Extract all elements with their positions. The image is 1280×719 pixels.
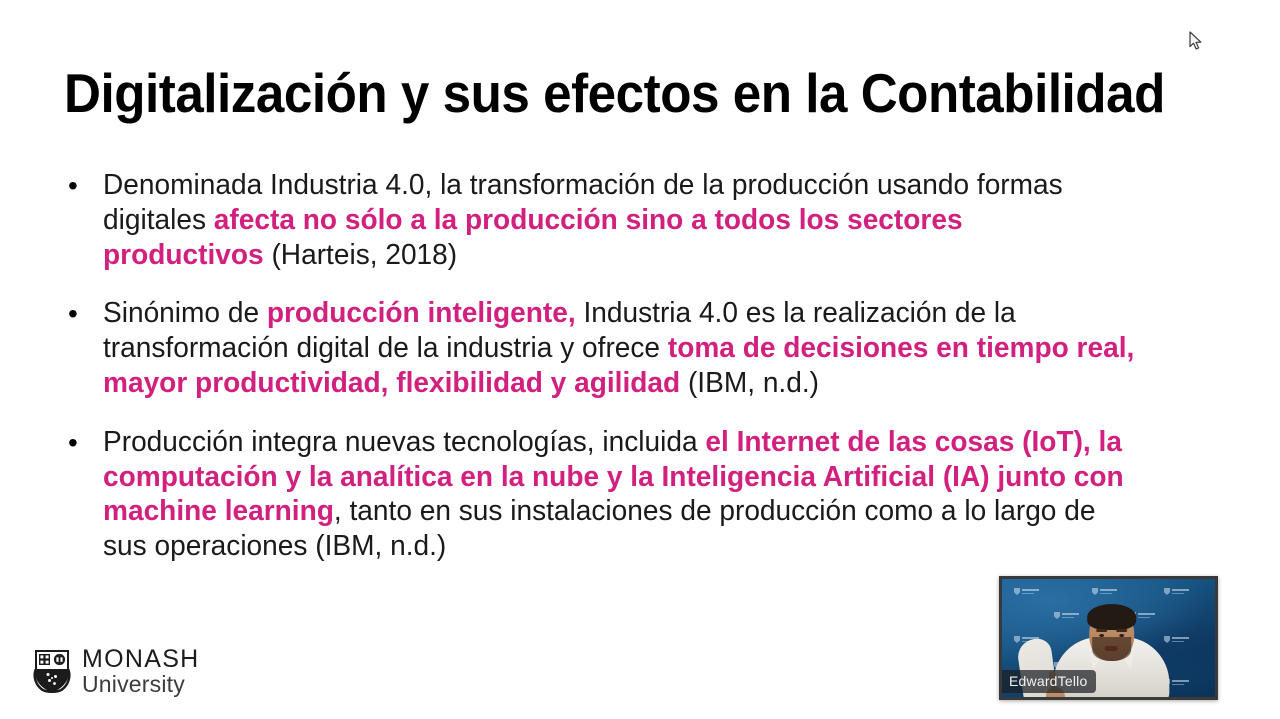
- slide-title: Digitalización y sus efectos en la Conta…: [64, 62, 1106, 124]
- bullet-marker: •: [60, 425, 103, 460]
- bullet-1-segment-highlight-1: afecta no sólo a la producción sino a to…: [103, 204, 963, 271]
- bullet-item-3: • Producción integra nuevas tecnologías,…: [60, 425, 1175, 564]
- participant-eyebrow-left: [1096, 629, 1107, 632]
- participant-head: [1089, 607, 1134, 661]
- bullet-text-2: Sinónimo de producción inteligente, Indu…: [103, 296, 1142, 400]
- bullet-item-2: • Sinónimo de producción inteligente, In…: [60, 296, 1175, 400]
- bullet-marker: •: [60, 296, 103, 331]
- bullet-item-1: • Denominada Industria 4.0, la transform…: [60, 168, 1175, 272]
- bullet-2-segment-plain-3: (IBM, n.d.): [680, 367, 819, 399]
- monash-shield-crest-icon: [33, 650, 71, 693]
- monash-logo-wordmark: MONASH University: [82, 647, 200, 696]
- participant-eyebrow-right: [1116, 629, 1127, 632]
- bullet-2-segment-plain-1: Sinónimo de: [103, 297, 267, 329]
- monash-logo-secondary-text: University: [82, 672, 200, 696]
- bullet-text-3: Producción integra nuevas tecnologías, i…: [103, 425, 1145, 564]
- participant-hair: [1087, 604, 1136, 630]
- bullet-3-segment-plain-1: Producción integra nuevas tecnologías, i…: [103, 426, 705, 458]
- monash-university-logo: MONASH University: [33, 647, 200, 696]
- bullet-1-segment-plain-2: (Harteis, 2018): [264, 239, 457, 271]
- participant-name-label: EdwardTello: [1002, 670, 1096, 693]
- bullet-2-segment-highlight-1: producción inteligente,: [267, 297, 576, 329]
- bullet-marker: •: [60, 168, 103, 203]
- participant-mouth: [1105, 646, 1118, 651]
- bullet-text-1: Denominada Industria 4.0, la transformac…: [103, 168, 1088, 272]
- monash-logo-primary-text: MONASH: [82, 647, 200, 671]
- presentation-slide: Digitalización y sus efectos en la Conta…: [0, 0, 1280, 719]
- mouse-pointer-icon: [1189, 31, 1203, 51]
- video-participant-tile[interactable]: EdwardTello: [999, 576, 1218, 700]
- slide-body-bullet-list: • Denominada Industria 4.0, la transform…: [60, 168, 1175, 564]
